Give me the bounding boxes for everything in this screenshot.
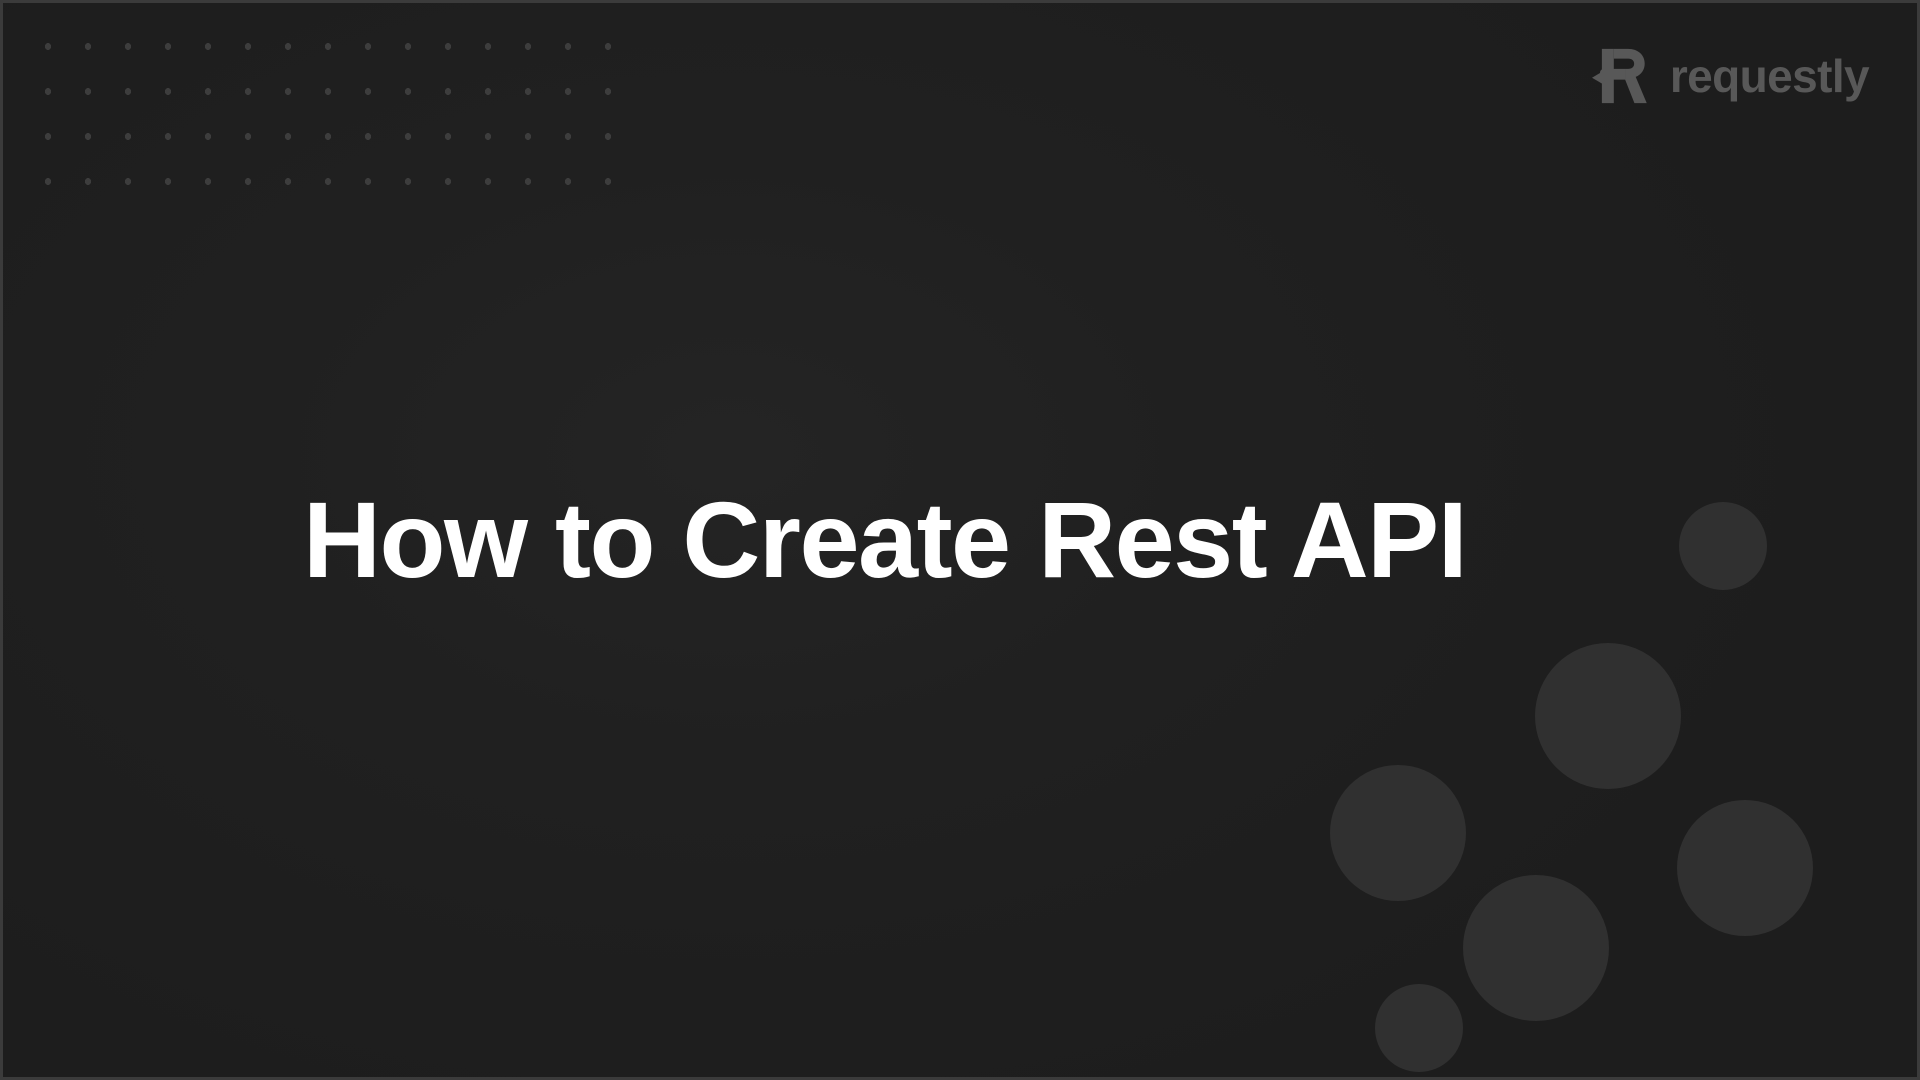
- circle-top-right: [1679, 502, 1767, 590]
- page-title: How to Create Rest API: [303, 480, 1466, 601]
- requestly-logo: requestly: [1592, 45, 1869, 107]
- slide-canvas: requestly How to Create Rest API: [0, 0, 1920, 1080]
- circle-far-right: [1677, 800, 1813, 936]
- requestly-wordmark: requestly: [1670, 53, 1869, 99]
- title-container: How to Create Rest API: [303, 3, 1617, 1077]
